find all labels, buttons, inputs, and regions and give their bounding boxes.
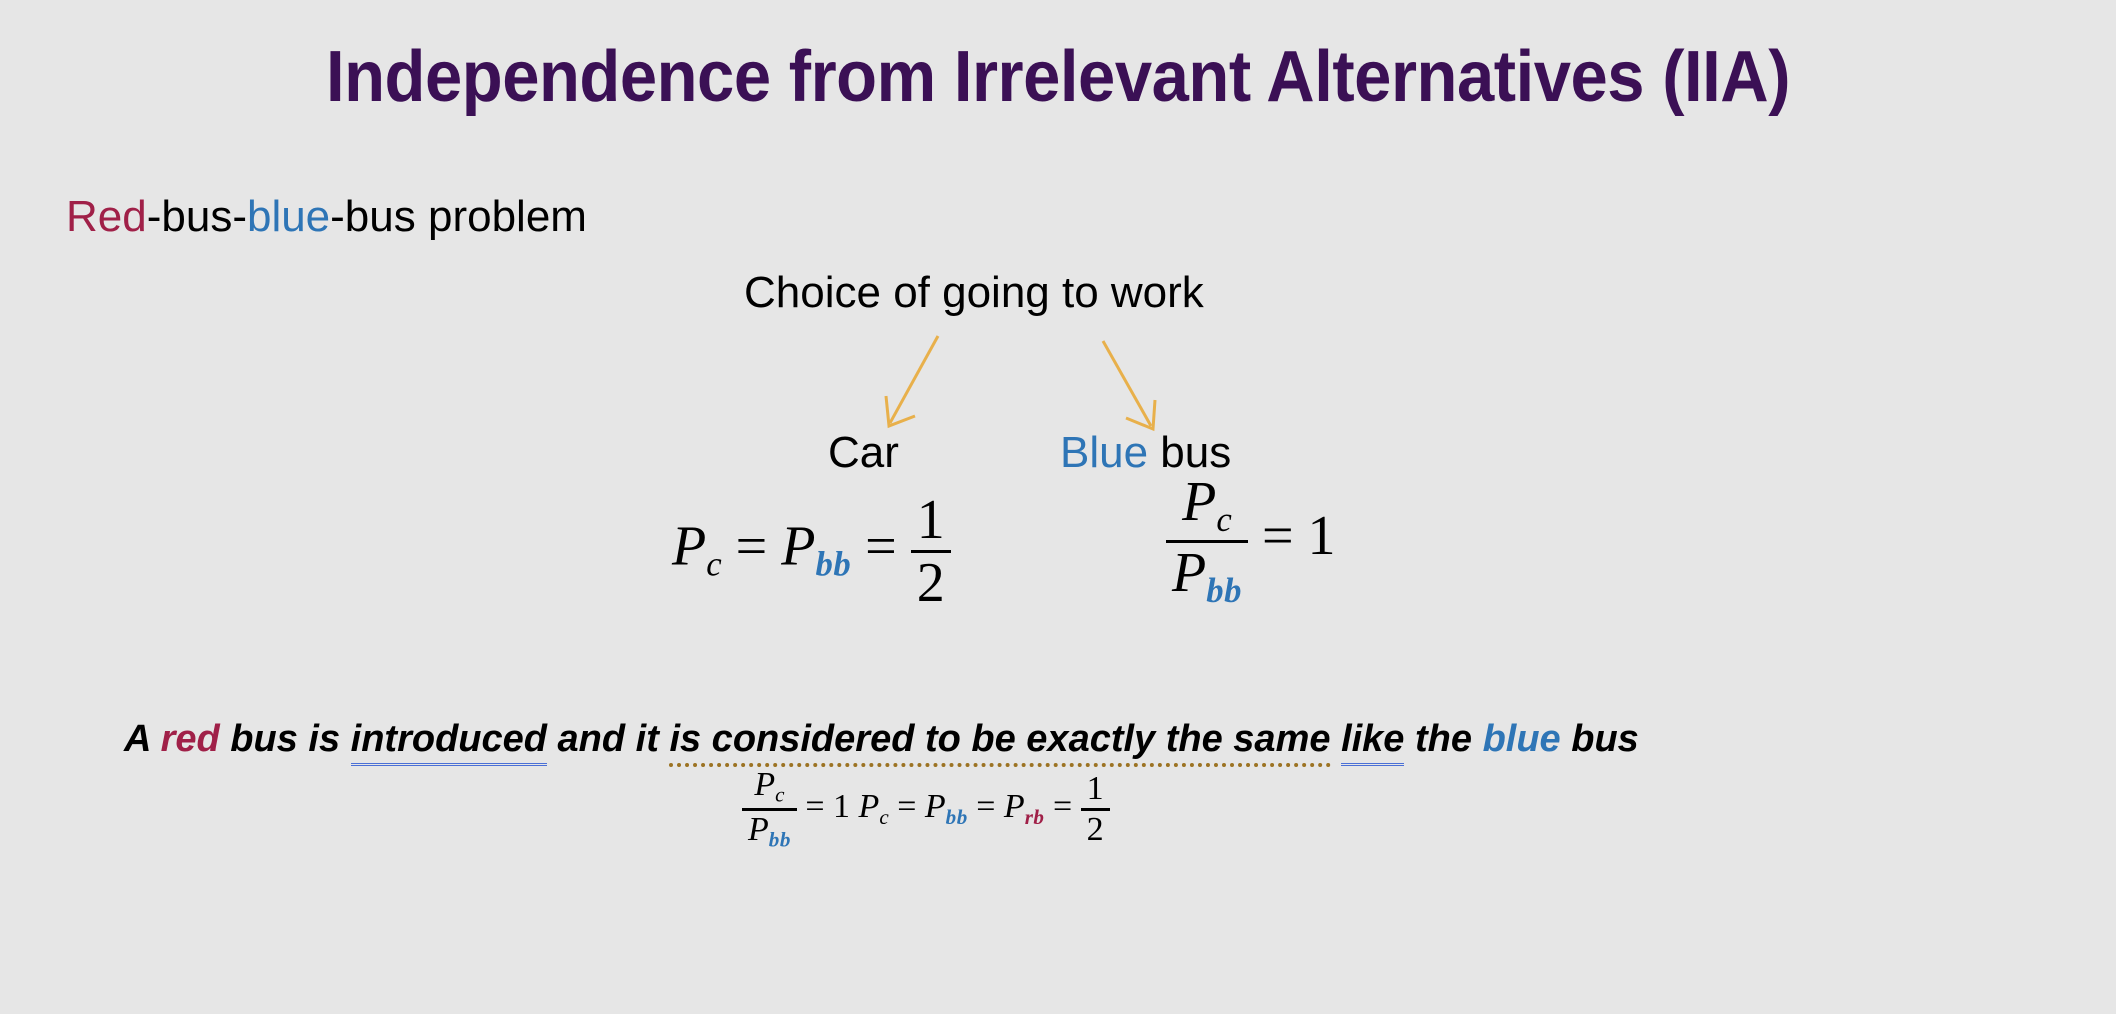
eq-bottom-equals-2: = [897, 788, 916, 825]
eq-bluebus-equals: = [1262, 505, 1294, 567]
blue-bus-word-blue: Blue [1060, 428, 1148, 477]
bullet-word-blue: blue [247, 192, 330, 241]
bullet-word-red: Red [66, 192, 147, 241]
equation-bottom: Pc Pbb = 1 Pc = Pbb = Prb = 1 2 [742, 768, 1110, 851]
eq-bottom-one: 1 [833, 788, 850, 825]
sentence-word-blue: blue [1483, 718, 1561, 760]
arrow-to-blue-bus-icon [1103, 341, 1155, 429]
eq-bottom-sub-bb: bb [946, 805, 968, 829]
bullet-text-tail: -bus problem [330, 192, 587, 241]
eq-car-fraction: 1 2 [911, 492, 951, 611]
sentence-word-red: red [161, 718, 220, 760]
bottom-sentence: A red bus is introduced and it is consid… [124, 718, 1639, 761]
sentence-part-3: and it [547, 718, 669, 760]
eq-bottom-den-sub: bb [769, 828, 791, 852]
eq-car-equals-2: = [865, 515, 897, 577]
blue-bus-word-bus: bus [1148, 428, 1231, 477]
eq-bottom-p-rb: P [1004, 788, 1025, 825]
sentence-spellcheck-introduced[interactable]: introduced [351, 718, 547, 766]
eq-bluebus-denominator: Pbb [1166, 543, 1248, 609]
eq-bottom-denominator: Pbb [742, 811, 797, 851]
bullet-line: Red-bus-blue-bus problem [66, 192, 587, 242]
sentence-part-4 [1331, 718, 1342, 760]
equation-blue-bus: Pc Pbb = 1 [1166, 474, 1336, 609]
eq-bottom-fraction: Pc Pbb [742, 768, 797, 851]
eq-bottom-sub-rb: rb [1025, 805, 1045, 829]
eq-bottom-numerator: Pc [742, 768, 797, 808]
tree-root-label: Choice of going to work [744, 268, 1204, 318]
eq-car-sub-c: c [706, 544, 721, 583]
page-title: Independence from Irrelevant Alternative… [74, 36, 2042, 118]
eq-bottom-half-denominator: 2 [1081, 811, 1110, 847]
eq-bottom-equals-4: = [1053, 788, 1072, 825]
equation-car: Pc = Pbb = 1 2 [672, 492, 951, 611]
eq-bottom-num-sub: c [775, 783, 784, 807]
sentence-part-5: the [1404, 718, 1482, 760]
eq-bottom-half-fraction: 1 2 [1081, 772, 1110, 847]
eq-bluebus-rhs: 1 [1308, 505, 1336, 567]
sentence-part-1: A [124, 718, 161, 760]
eq-bottom-num-p: P [754, 766, 775, 803]
eq-bluebus-numerator: Pc [1166, 474, 1248, 540]
eq-car-frac-numerator: 1 [911, 492, 951, 550]
eq-car-sub-bb: bb [815, 544, 851, 583]
eq-car-frac-denominator: 2 [911, 553, 951, 611]
sentence-spellcheck-like[interactable]: like [1341, 718, 1404, 766]
eq-bottom-half-numerator: 1 [1081, 772, 1110, 808]
arrow-to-car-icon [886, 336, 938, 426]
eq-bluebus-num-p: P [1182, 471, 1216, 533]
eq-car-equals-1: = [736, 515, 768, 577]
eq-bottom-equals-1: = [805, 788, 824, 825]
eq-bottom-p-bb: P [925, 788, 946, 825]
eq-bottom-p-c: P [859, 788, 880, 825]
sentence-part-2: bus is [220, 718, 351, 760]
branch-arrows-group [0, 0, 2116, 1014]
sentence-grammarcheck-phrase[interactable]: is considered to be exactly the same [669, 718, 1330, 767]
eq-bottom-sub-c: c [879, 805, 888, 829]
eq-bottom-den-p: P [748, 811, 769, 848]
eq-bluebus-den-sub: bb [1206, 571, 1242, 610]
eq-car-p2: P [781, 515, 815, 577]
eq-bottom-equals-3: = [976, 788, 995, 825]
eq-car-p1: P [672, 515, 706, 577]
sentence-part-6: bus [1561, 718, 1639, 760]
eq-bluebus-fraction: Pc Pbb [1166, 474, 1248, 609]
bullet-text-mid: -bus- [147, 192, 247, 241]
eq-bluebus-den-p: P [1172, 542, 1206, 604]
tree-branch-label-car: Car [828, 428, 899, 478]
eq-bluebus-num-sub: c [1216, 500, 1231, 539]
